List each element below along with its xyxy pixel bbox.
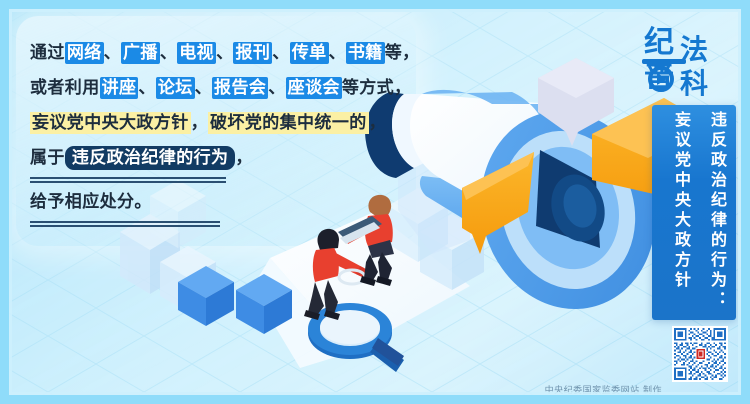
copy-segment-blue: 报告会 bbox=[212, 77, 268, 99]
poster-canvas: 通过网络、广播、电视、报刊、传单、书籍等， 或者利用讲座、论坛、报告会、座谈会等… bbox=[0, 0, 750, 404]
copy-line: 或者利用讲座、论坛、报告会、座谈会等方式， bbox=[30, 71, 420, 106]
copy-segment-blue: 网络 bbox=[65, 42, 104, 64]
copy-segment-plain: 、 bbox=[272, 43, 289, 63]
copy-segment-plain: 、 bbox=[104, 43, 121, 63]
copy-segment-plain: ， bbox=[235, 148, 252, 168]
play-triangle-icon bbox=[657, 73, 667, 85]
main-copy: 通过网络、广播、电视、报刊、传单、书籍等， 或者利用讲座、论坛、报告会、座谈会等… bbox=[30, 36, 420, 229]
banner-column-right: 违反政治纪律的行为： bbox=[696, 111, 728, 311]
banner-column-left: 妄议党中央大政方针 bbox=[660, 111, 692, 291]
divider-rule-2 bbox=[30, 221, 220, 227]
program-logo[interactable]: 纪 法 普 科 bbox=[638, 26, 742, 108]
copy-segment-blue: 广播 bbox=[121, 42, 160, 64]
copy-segment-plain: 、 bbox=[329, 43, 346, 63]
copy-segment-plain: 给予相应处分。 bbox=[30, 192, 152, 212]
copy-segment-blue: 电视 bbox=[177, 42, 216, 64]
copy-segment-pill: 违反政治纪律的行为 bbox=[65, 146, 236, 170]
qr-code-image bbox=[674, 328, 726, 380]
copy-segment-plain: 或者利用 bbox=[30, 78, 100, 98]
copy-segment-plain: 等方式， bbox=[342, 78, 412, 98]
copy-segment-blue: 报刊 bbox=[233, 42, 272, 64]
copy-line: 妄议党中央大政方针，破坏党的集中统一的， bbox=[30, 106, 420, 141]
credit-text: 中央纪委国家监委网站 制作 bbox=[545, 383, 662, 396]
copy-segment-plain: 、 bbox=[160, 43, 177, 63]
copy-line: 通过网络、广播、电视、报刊、传单、书籍等， bbox=[30, 36, 420, 71]
divider-rule-1 bbox=[30, 177, 226, 183]
logo-char-ji: 纪 bbox=[644, 28, 674, 58]
copy-segment-plain: ， bbox=[369, 113, 386, 133]
copy-segment-plain: ， bbox=[191, 113, 208, 133]
copy-segment-blue: 传单 bbox=[290, 42, 329, 64]
copy-segment-plain: 通过 bbox=[30, 43, 65, 63]
copy-segment-plain: 、 bbox=[138, 78, 155, 98]
copy-segment-plain: 等， bbox=[385, 43, 420, 63]
copy-segment-yellow: 破坏党的集中统一的 bbox=[208, 112, 369, 134]
copy-segment-plain: 、 bbox=[195, 78, 212, 98]
copy-segment-plain: 、 bbox=[268, 78, 285, 98]
qr-code[interactable] bbox=[672, 326, 728, 382]
copy-line: 给予相应处分。 bbox=[30, 185, 420, 220]
copy-segment-plain: 、 bbox=[216, 43, 233, 63]
copy-segment-blue: 讲座 bbox=[100, 77, 139, 99]
copy-segment-yellow: 妄议党中央大政方针 bbox=[30, 112, 191, 134]
logo-char-ke: 科 bbox=[680, 70, 708, 98]
vertical-title-banner: 违反政治纪律的行为： 妄议党中央大政方针 bbox=[652, 105, 736, 320]
copy-segment-blue: 论坛 bbox=[156, 77, 195, 99]
logo-bar bbox=[642, 59, 686, 64]
copy-line: 属于违反政治纪律的行为， bbox=[30, 141, 420, 176]
copy-segment-blue: 书籍 bbox=[346, 42, 385, 64]
copy-segment-plain: 属于 bbox=[30, 148, 65, 168]
copy-segment-blue: 座谈会 bbox=[286, 77, 342, 99]
